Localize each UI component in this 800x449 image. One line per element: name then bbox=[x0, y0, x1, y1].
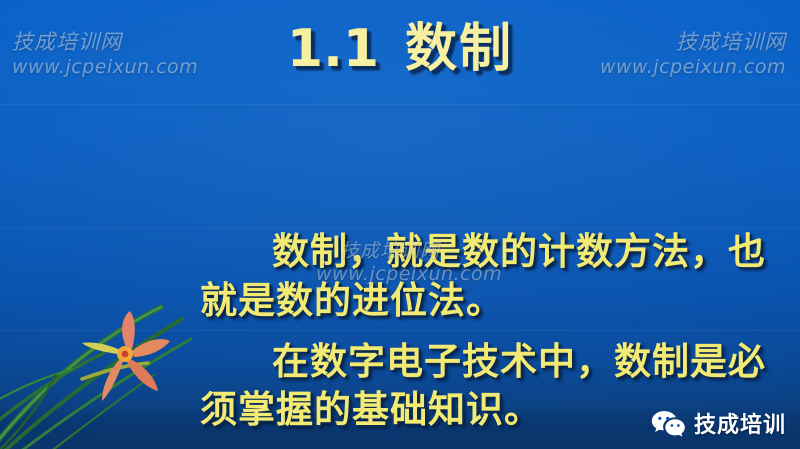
orchid-flower bbox=[82, 311, 170, 401]
body-paragraph-1: 数制，就是数的计数方法，也就是数的进位法。 bbox=[200, 228, 800, 326]
wechat-badge: 技成培训 bbox=[651, 407, 786, 439]
wechat-badge-label: 技成培训 bbox=[694, 407, 786, 439]
wechat-icon bbox=[651, 409, 685, 437]
slide-title: 1.1数制 bbox=[0, 6, 800, 81]
background-band bbox=[0, 104, 800, 105]
title-heading: 数制 bbox=[405, 19, 513, 79]
presentation-slide: 1.1数制 技成培训网 www.jcpeixun.com 技成培训网 www.j… bbox=[0, 0, 800, 449]
title-number: 1.1 bbox=[287, 19, 379, 79]
